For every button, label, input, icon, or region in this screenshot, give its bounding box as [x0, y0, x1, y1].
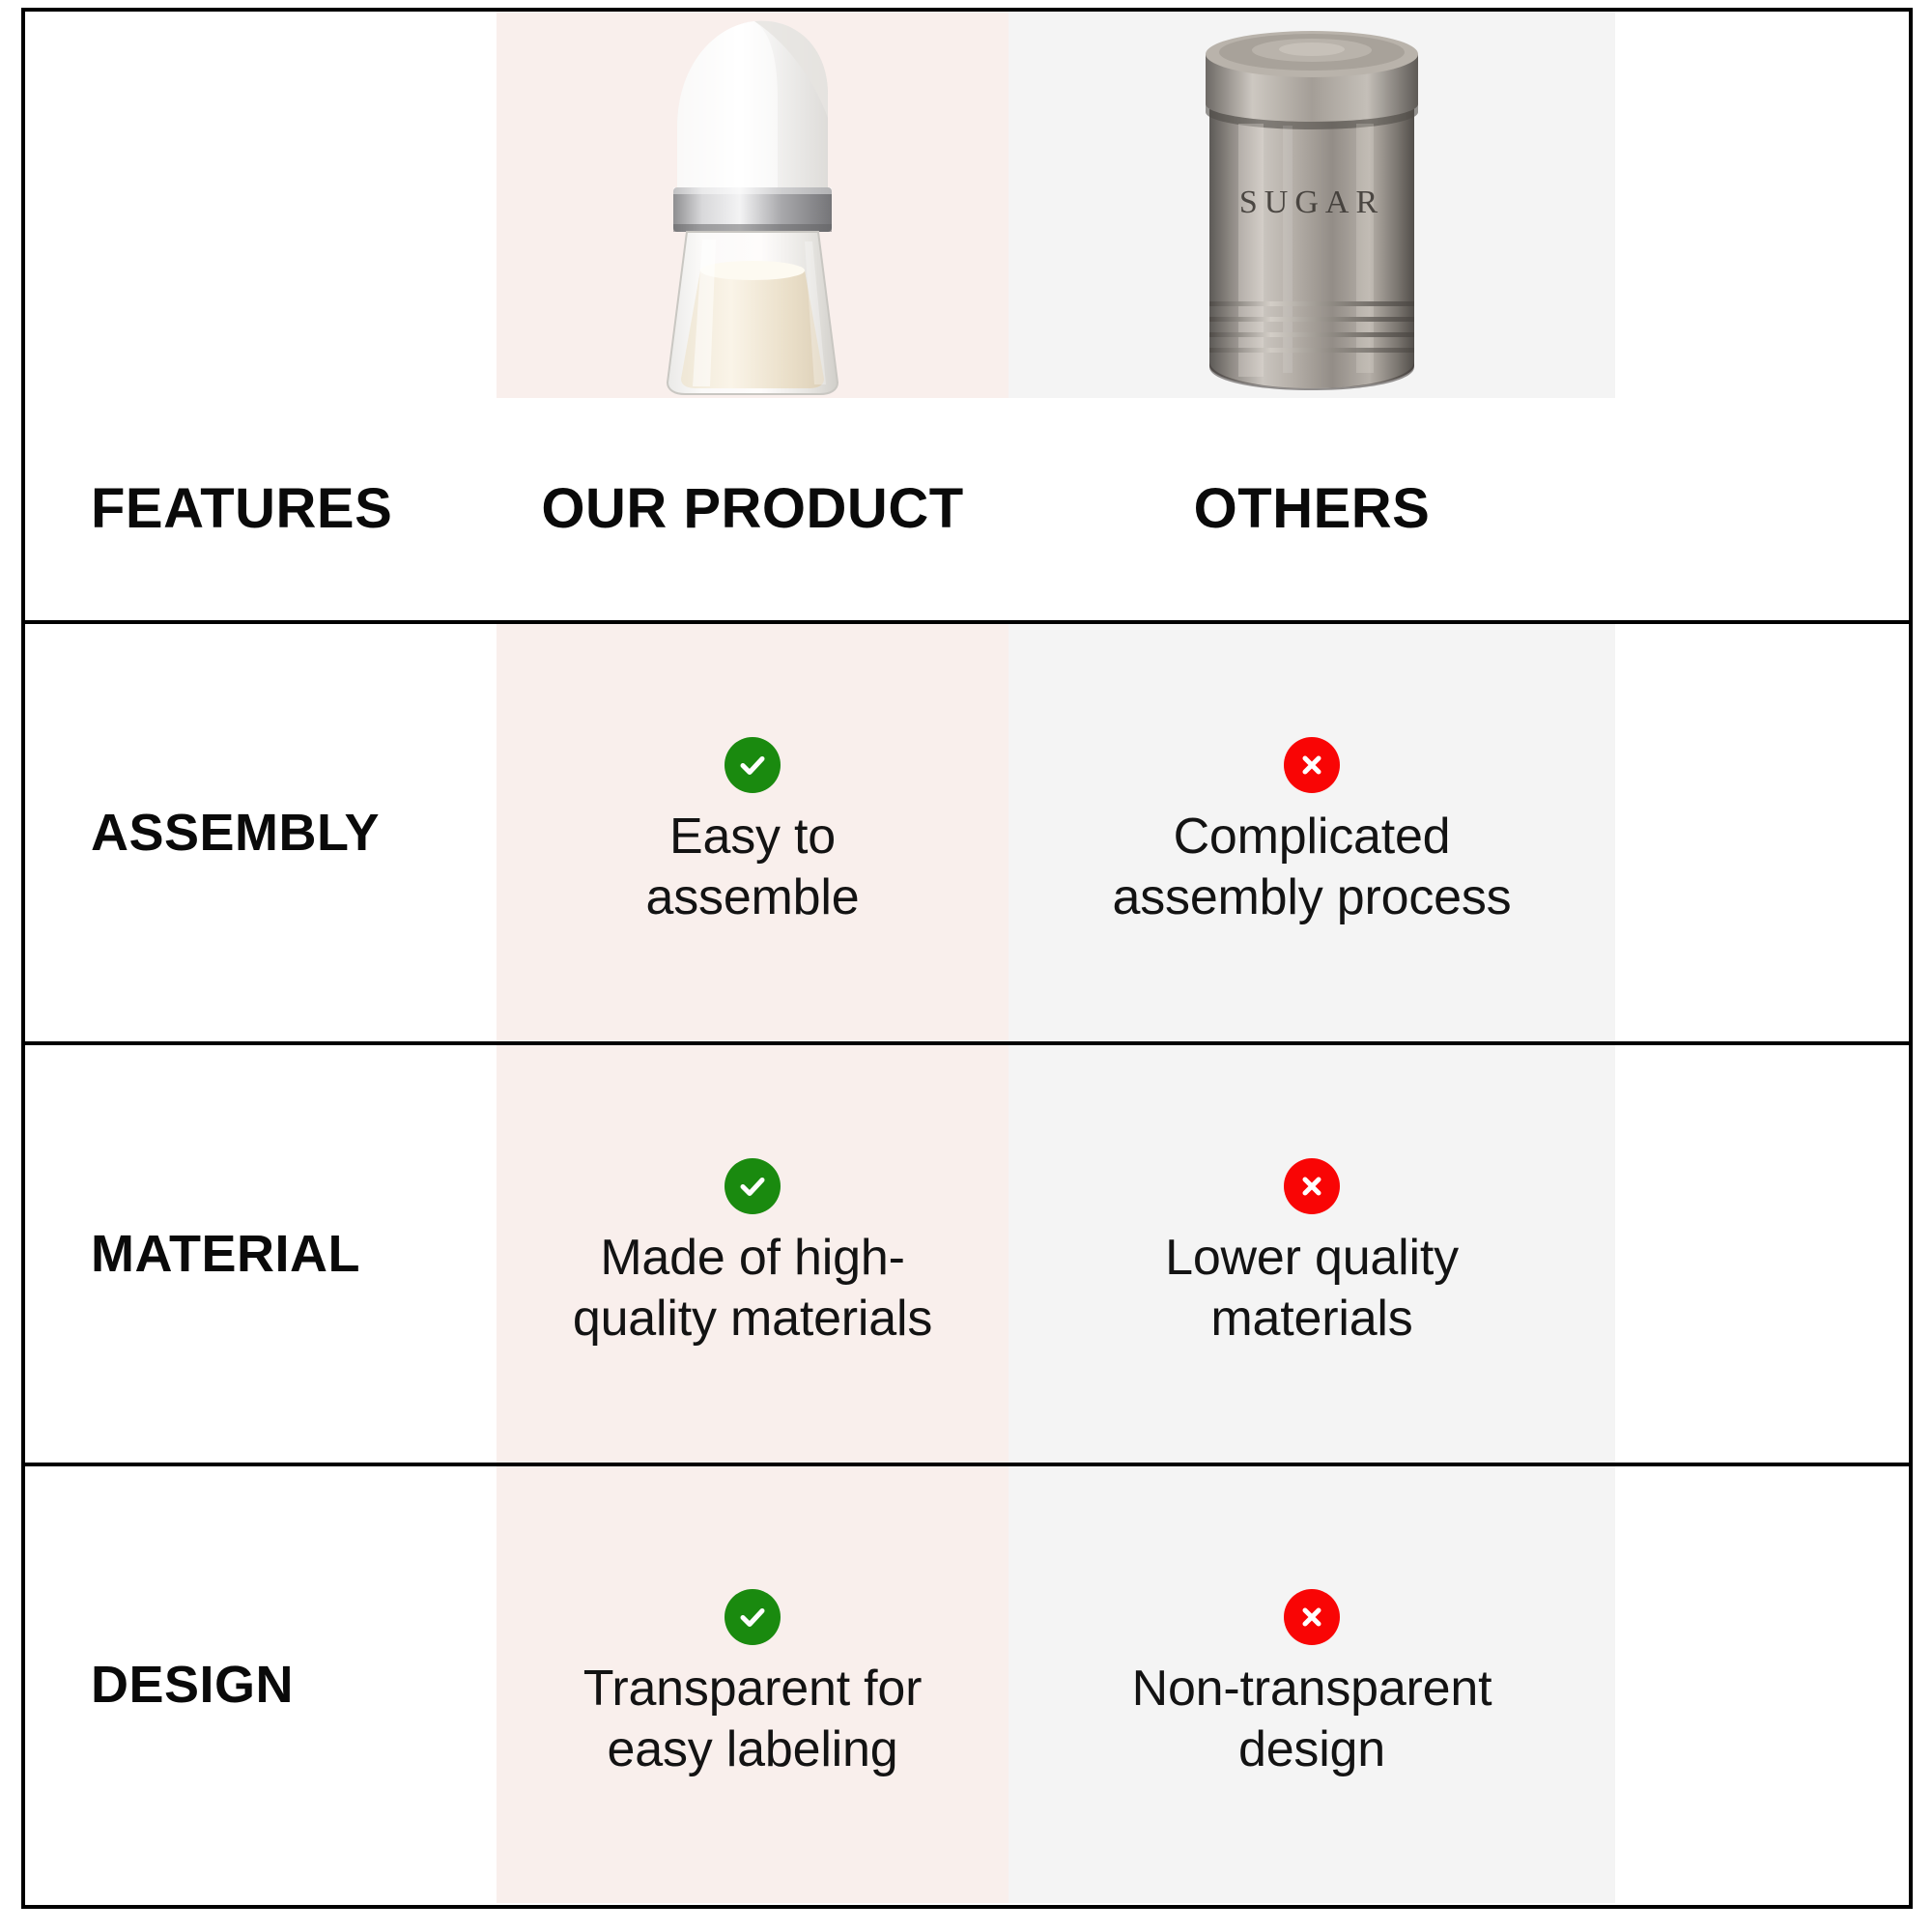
glass-sugar-dispenser-image: [497, 12, 1009, 398]
table-row: DESIGN Transparent for easy labeling Non: [25, 1463, 1909, 1903]
comparison-table-page: FEATURES: [0, 0, 1932, 1932]
others-cell: Lower quality materials: [1009, 1045, 1615, 1463]
others-value-line-2: assembly process: [1113, 867, 1512, 928]
others-value-line-2: materials: [1210, 1289, 1412, 1350]
cross-circle-icon: [1284, 1158, 1340, 1214]
header-label-wrap-others: OTHERS: [1009, 398, 1615, 620]
our-product-value-line-1: Easy to: [669, 807, 836, 867]
header-label-wrap-our-product: OUR PRODUCT: [497, 398, 1009, 620]
table-header-row: FEATURES: [25, 12, 1909, 620]
our-product-value-line-2: easy labeling: [608, 1719, 898, 1780]
stainless-steel-sugar-canister-image: SUGAR: [1009, 12, 1615, 398]
feature-label: ASSEMBLY: [25, 806, 497, 861]
others-value-line-2: design: [1238, 1719, 1385, 1780]
table-row: ASSEMBLY Easy to assemble Complicated: [25, 620, 1909, 1041]
header-cell-our-product: OUR PRODUCT: [497, 12, 1009, 620]
svg-text:SUGAR: SUGAR: [1239, 185, 1384, 220]
table-row: MATERIAL Made of high- quality materials: [25, 1041, 1909, 1463]
column-header-features: FEATURES: [25, 480, 392, 539]
others-value-line-1: Lower quality: [1165, 1228, 1459, 1289]
cross-circle-icon: [1284, 737, 1340, 793]
header-cell-features: FEATURES: [25, 12, 497, 620]
others-value-line-1: Non-transparent: [1132, 1659, 1492, 1719]
others-cell: Non-transparent design: [1009, 1466, 1615, 1903]
header-cell-others: SUGAR OTHERS: [1009, 12, 1615, 620]
our-product-value-line-1: Made of high-: [600, 1228, 904, 1289]
check-circle-icon: [724, 1158, 781, 1214]
feature-cell: ASSEMBLY: [25, 624, 497, 1041]
our-product-cell: Transparent for easy labeling: [497, 1466, 1009, 1903]
our-product-cell: Easy to assemble: [497, 624, 1009, 1041]
feature-label: MATERIAL: [25, 1227, 497, 1282]
our-product-cell: Made of high- quality materials: [497, 1045, 1009, 1463]
our-product-value-line-2: assemble: [646, 867, 860, 928]
cross-circle-icon: [1284, 1589, 1340, 1645]
our-product-value-line-1: Transparent for: [583, 1659, 923, 1719]
others-value-line-1: Complicated: [1174, 807, 1451, 867]
check-circle-icon: [724, 737, 781, 793]
header-image-placeholder-features: [25, 12, 497, 398]
others-cell: Complicated assembly process: [1009, 624, 1615, 1041]
column-header-our-product: OUR PRODUCT: [497, 480, 1009, 539]
comparison-table: FEATURES: [21, 8, 1913, 1909]
feature-label: DESIGN: [25, 1658, 497, 1713]
feature-cell: MATERIAL: [25, 1045, 497, 1463]
column-header-others: OTHERS: [1009, 480, 1615, 539]
check-circle-icon: [724, 1589, 781, 1645]
our-product-value-line-2: quality materials: [573, 1289, 932, 1350]
header-label-wrap-features: FEATURES: [25, 398, 497, 620]
feature-cell: DESIGN: [25, 1466, 497, 1903]
